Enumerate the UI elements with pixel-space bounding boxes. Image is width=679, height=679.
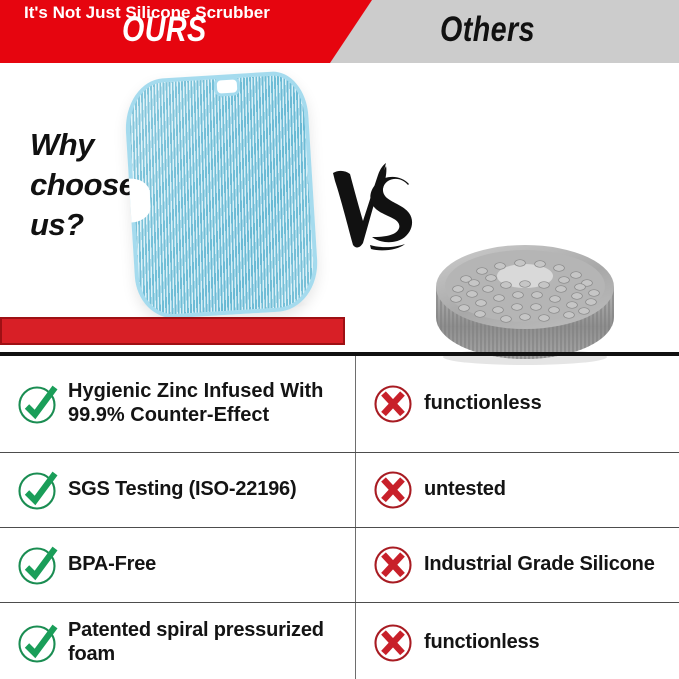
table-row: SGS Testing (ISO-22196) untested (0, 453, 679, 528)
check-circle-icon (14, 467, 60, 513)
blue-silicone-pad (123, 70, 320, 321)
ours-feature-text: BPA-Free (68, 553, 156, 577)
others-cell: Industrial Grade Silicone (356, 528, 679, 602)
others-feature-text: untested (424, 478, 506, 502)
vs-icon (330, 159, 416, 251)
pad-side-notch (129, 177, 152, 222)
others-product-image (428, 231, 622, 371)
ours-cell: Hygienic Zinc Infused With 99.9% Counter… (0, 356, 355, 452)
others-cell: functionless (356, 356, 679, 452)
comparison-infographic: OURS Others Why choose us? (0, 0, 679, 679)
others-cell: untested (356, 453, 679, 527)
ours-cell: Patented spiral pressurized foam (0, 603, 355, 679)
check-circle-icon (14, 620, 60, 666)
others-feature-text: Industrial Grade Silicone (424, 553, 655, 577)
sub-banner (0, 317, 345, 345)
sub-banner-text: It's Not Just Silicone Scrubber (24, 0, 270, 28)
table-row: BPA-Free Industrial Grade Silicone (0, 528, 679, 603)
cross-circle-icon (370, 467, 416, 513)
check-circle-icon (14, 381, 60, 427)
ours-cell: BPA-Free (0, 528, 355, 602)
ours-feature-text: Hygienic Zinc Infused With 99.9% Counter… (68, 380, 348, 427)
hero-section: Why choose us? (0, 63, 679, 312)
others-feature-text: functionless (424, 631, 539, 655)
cross-circle-icon (370, 620, 416, 666)
others-cell: functionless (356, 603, 679, 679)
header-others-label: Others (440, 0, 535, 63)
check-circle-icon (14, 542, 60, 588)
pad-hanging-hole (213, 76, 240, 97)
others-feature-text: functionless (424, 392, 542, 416)
ours-feature-text: Patented spiral pressurized foam (68, 619, 348, 666)
table-row: Hygienic Zinc Infused With 99.9% Counter… (0, 356, 679, 453)
ours-feature-text: SGS Testing (ISO-22196) (68, 478, 296, 502)
ours-cell: SGS Testing (ISO-22196) (0, 453, 355, 527)
comparison-table: Hygienic Zinc Infused With 99.9% Counter… (0, 352, 679, 679)
ours-product-image (122, 69, 317, 314)
table-row: Patented spiral pressurized foam functio… (0, 603, 679, 679)
cross-circle-icon (370, 542, 416, 588)
cross-circle-icon (370, 381, 416, 427)
